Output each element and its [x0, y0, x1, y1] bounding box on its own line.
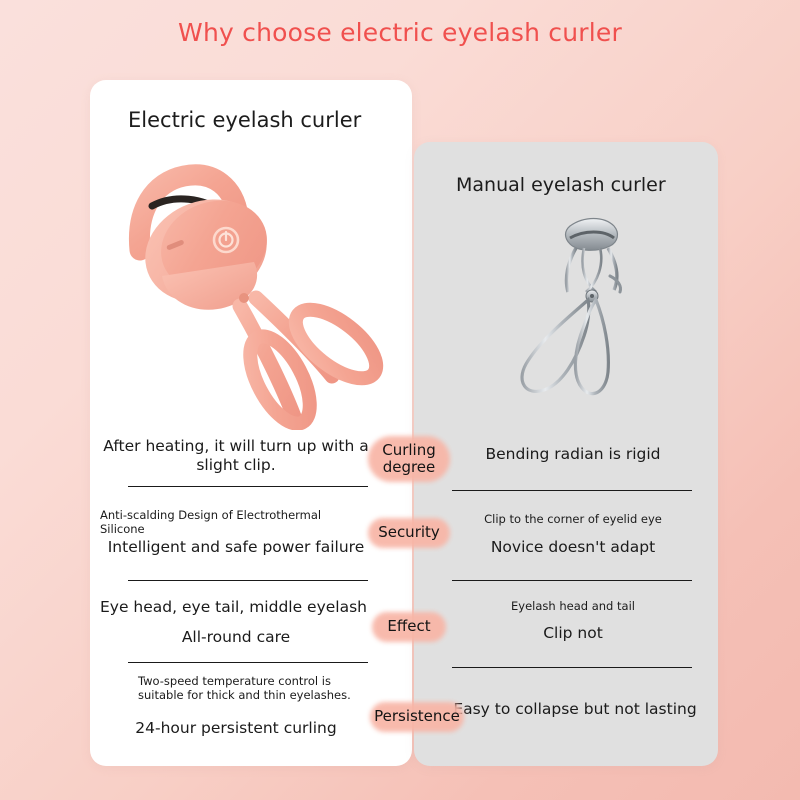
row-3-right-big: Easy to collapse but not lasting [452, 700, 698, 719]
divider-left-0 [128, 486, 368, 487]
pill-label-security[interactable]: Security [368, 518, 450, 548]
row-1-right-big: Novice doesn't adapt [444, 538, 702, 557]
pill-text: Security [378, 524, 440, 541]
divider-right-1 [452, 580, 692, 581]
comparison-table: After heating, it will turn up with a sl… [0, 0, 800, 800]
pill-text: Persistence [374, 708, 460, 725]
divider-left-1 [128, 580, 368, 581]
pill-text: Effect [387, 618, 430, 635]
row-2-right-small: Eyelash head and tail [444, 599, 702, 613]
row-2-left-small: Eye head, eye tail, middle eyelash [100, 598, 376, 617]
pill-label-curling-degree[interactable]: Curling degree [368, 436, 450, 482]
row-3-left-big: 24-hour persistent curling [98, 719, 374, 738]
divider-right-0 [452, 490, 692, 491]
row-1-right-small: Clip to the corner of eyelid eye [444, 512, 702, 526]
divider-left-2 [128, 662, 368, 663]
pill-text: Curling degree [368, 442, 450, 477]
row-2-left-big: All-round care [98, 628, 374, 647]
divider-right-2 [452, 667, 692, 668]
row-0-left-big: After heating, it will turn up with a sl… [98, 437, 374, 476]
row-1-left-big: Intelligent and safe power failure [98, 538, 374, 557]
pill-label-persistence[interactable]: Persistence [370, 702, 464, 732]
row-0-right-big: Bending radian is rigid [444, 445, 702, 464]
row-3-left-small: Two-speed temperature control is suitabl… [138, 674, 358, 702]
row-2-right-big: Clip not [444, 624, 702, 643]
pill-label-effect[interactable]: Effect [372, 612, 446, 642]
row-1-left-small: Anti-scalding Design of Electrothermal S… [100, 508, 352, 536]
